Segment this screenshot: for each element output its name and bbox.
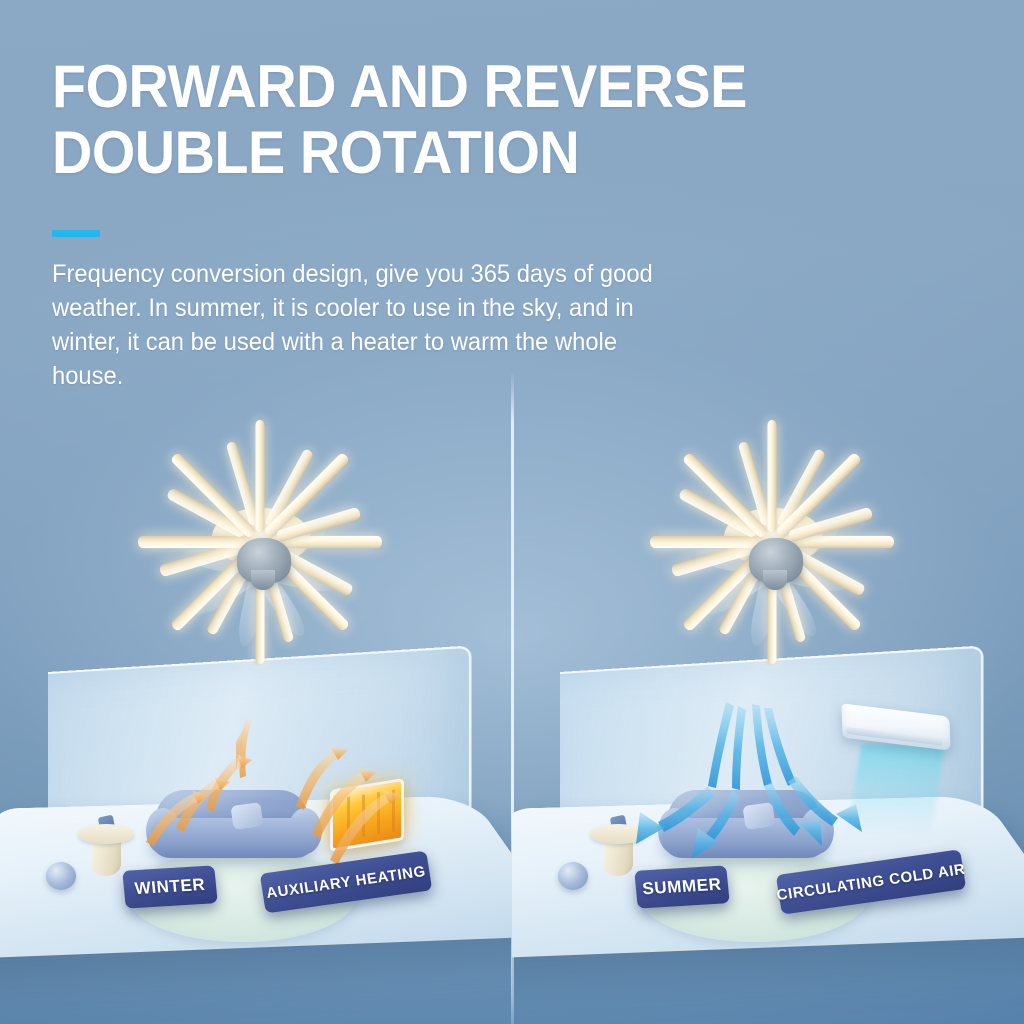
fan-hub-cap <box>763 570 787 590</box>
led-bar <box>138 536 250 548</box>
heater-fin <box>392 790 395 832</box>
accent-bar <box>52 230 100 237</box>
ac-air-stream <box>847 744 946 836</box>
heater-fin <box>362 794 365 836</box>
ceiling-fan-fixture-winter <box>100 412 420 672</box>
side-table-winter <box>78 824 134 878</box>
panel-winter <box>0 372 512 1024</box>
led-bar <box>650 536 762 548</box>
table-top <box>78 824 134 844</box>
led-bar <box>255 420 264 532</box>
sofa-cushion <box>230 802 263 830</box>
led-bar <box>767 420 776 532</box>
heater-appliance <box>330 778 404 852</box>
heater-fin <box>347 797 350 839</box>
badge-winter: WINTER <box>122 865 218 908</box>
headline-line-1: FORWARD AND REVERSE <box>52 54 870 120</box>
badge-summer: SUMMER <box>634 865 730 908</box>
panel-summer <box>512 372 1024 1024</box>
heater-fin <box>377 792 380 834</box>
header-block: FORWARD AND REVERSE DOUBLE ROTATION Freq… <box>52 54 932 186</box>
sofa-cushion <box>742 802 775 830</box>
fan-hub-cap <box>251 570 275 590</box>
curved-sofa-summer <box>662 790 828 864</box>
table-top <box>590 824 646 844</box>
side-table-summer <box>590 824 646 878</box>
heater-body <box>330 778 404 852</box>
decor-sphere-summer <box>558 862 588 890</box>
headline-line-2: DOUBLE ROTATION <box>52 120 870 186</box>
promo-image-root: FORWARD AND REVERSE DOUBLE ROTATION Freq… <box>0 0 1024 1024</box>
decor-sphere-winter <box>46 862 76 890</box>
ceiling-fan-fixture-summer <box>612 412 932 672</box>
curved-sofa-winter <box>150 790 316 864</box>
